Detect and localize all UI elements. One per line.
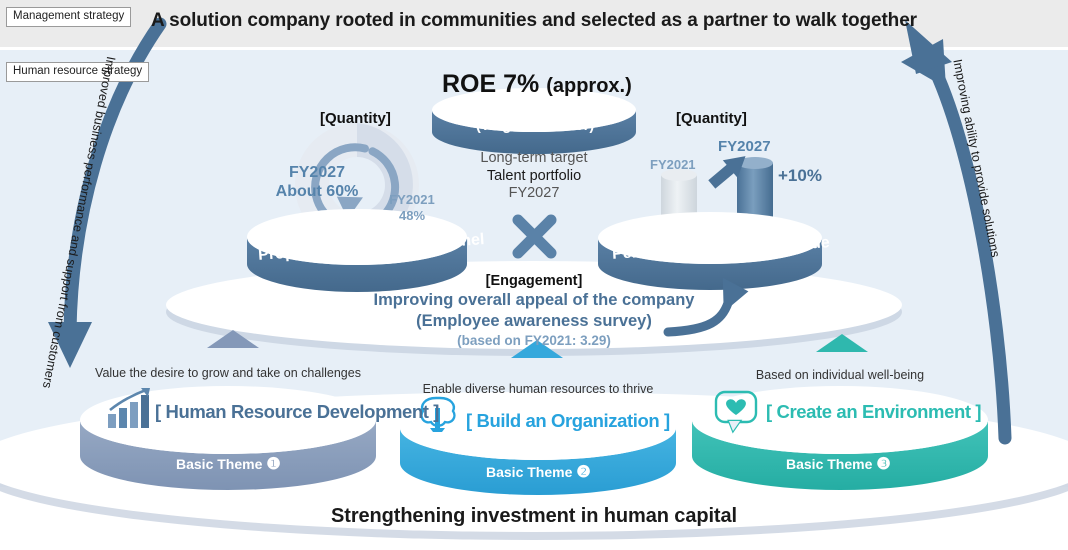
donut-target-label: FY2027 About 60%	[262, 163, 372, 201]
roe-approx: (approx.)	[546, 75, 632, 97]
note-line-2: Talent portfolio	[446, 168, 622, 186]
engagement-block: [Engagement] Improving overall appeal of…	[0, 272, 1068, 350]
engagement-line-2: (Employee awareness survey)	[0, 311, 1068, 332]
theme-1-title: [ Human Resource Development ]	[155, 401, 439, 423]
note-line-3: FY2027	[446, 185, 622, 203]
engagement-line-1: Improving overall appeal of the company	[0, 290, 1068, 311]
theme-3-subtitle: Based on individual well-being	[690, 368, 990, 382]
roe-target-title: ROE 7% (approx.)	[442, 70, 632, 99]
theme-1-subtitle: Value the desire to grow and take on cha…	[78, 366, 378, 380]
theme-1-basic-label: Basic Theme	[176, 456, 262, 472]
theme-3-basic-label: Basic Theme	[786, 456, 872, 472]
left-quantity-label: [Quantity]	[320, 110, 391, 127]
theme-2-number: ❷	[576, 464, 590, 481]
page-footer-title: Strengthening investment in human capita…	[0, 505, 1068, 528]
bar-base-year-label: FY2021	[650, 157, 696, 172]
right-quantity-label: [Quantity]	[676, 110, 747, 127]
bar-target-year-label: FY2027	[718, 138, 771, 155]
theme-3-title: [ Create an Environment ]	[766, 401, 981, 423]
theme-2-subtitle: Enable diverse human resources to thrive	[400, 382, 676, 396]
donut-target-year: FY2027	[262, 163, 372, 182]
note-line-1: Long-term target	[446, 150, 622, 168]
theme-1-number: ❶	[266, 456, 280, 473]
donut-base-year: FY2021	[382, 192, 442, 208]
tag-human-resource-strategy: Human resource strategy	[6, 62, 149, 82]
infographic-canvas: Management strategy Human resource strat…	[0, 0, 1068, 550]
donut-base-label: FY2021 48%	[382, 192, 442, 223]
page-title: A solution company rooted in communities…	[0, 10, 1068, 32]
bar-delta-label: +10%	[778, 166, 822, 186]
theme-2-basic-theme: Basic Theme❷	[486, 462, 591, 482]
engagement-line-3: (based on FY2021: 3.29)	[0, 332, 1068, 350]
donut-target-value: About 60%	[262, 182, 372, 201]
theme-1-basic-theme: Basic Theme❶	[176, 454, 281, 474]
roe-cylinder-caption: (Target indicator)	[476, 118, 594, 134]
long-term-target-note: Long-term target Talent portfolio FY2027	[446, 150, 622, 203]
theme-2-basic-label: Basic Theme	[486, 464, 572, 480]
theme-3-basic-theme: Basic Theme❸	[786, 454, 891, 474]
donut-base-value: 48%	[382, 208, 442, 224]
theme-3-number: ❸	[876, 456, 890, 473]
theme-2-title: [ Build an Organization ]	[466, 410, 670, 432]
roe-value: ROE 7%	[442, 70, 539, 98]
engagement-head: [Engagement]	[0, 272, 1068, 290]
